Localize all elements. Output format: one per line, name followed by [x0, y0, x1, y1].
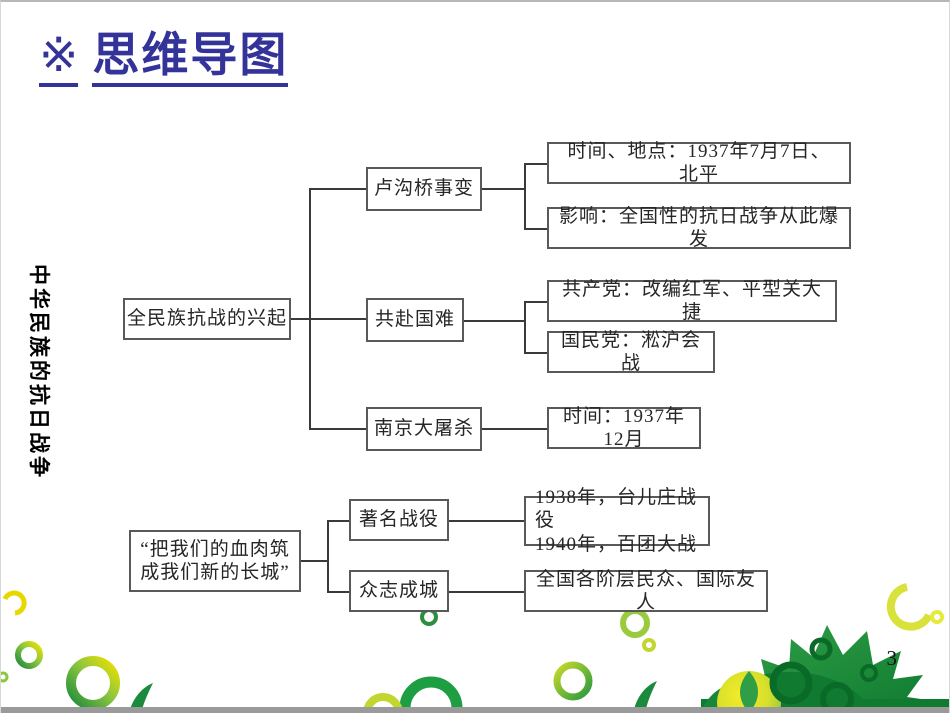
page-title: ※ 思维导图 [39, 32, 288, 87]
node-root-cluster-one[interactable]: 全民族抗战的兴起 [123, 298, 291, 340]
connector-spine-to-lugouqiao [309, 188, 368, 190]
connector-spine-cluster-two [327, 520, 329, 591]
connector-lugouqiao-bracket [524, 163, 526, 228]
connector-spine2-to-unity [327, 591, 351, 593]
node-branch-lugouqiao[interactable]: 卢沟桥事变 [366, 167, 482, 211]
reference-mark-icon: ※ [39, 32, 78, 87]
node-label: 卢沟桥事变 [374, 177, 474, 200]
connector-gongfuguonan-leaf2 [524, 352, 549, 354]
connector-spine-to-nanjing [309, 428, 368, 430]
connector-lugouqiao-out [482, 188, 526, 190]
vertical-chapter-label-text: 中华民族的抗日战争 [25, 264, 55, 480]
leaf-unity-participants[interactable]: 全国各阶层民众、国际友人 [524, 570, 768, 612]
node-branch-nanjing[interactable]: 南京大屠杀 [366, 407, 482, 451]
connector-nanjing-to-leaf [482, 428, 549, 430]
leaf-label: 共产党：改编红军、平型关大捷 [558, 278, 826, 324]
node-label: 众志成城 [359, 579, 439, 602]
leaf-famous-battles-list[interactable]: 1938年，台儿庄战役 1940年，百团大战 [524, 496, 710, 546]
node-label: 共赴国难 [375, 308, 455, 331]
node-root-cluster-two[interactable]: “把我们的血肉筑 成我们新的长城” [129, 530, 301, 592]
connector-gongfuguonan-bracket [524, 301, 526, 352]
leaf-label: 时间：1937年12月 [558, 405, 690, 451]
node-label: 著名战役 [359, 508, 439, 531]
connector-spine2-to-battles [327, 520, 351, 522]
bottom-rule-divider [1, 707, 950, 713]
page-number: 3 [887, 646, 898, 671]
vertical-chapter-label: 中华民族的抗日战争 [18, 232, 62, 512]
leaf-lugouqiao-impact[interactable]: 影响：全国性的抗日战争从此爆发 [547, 207, 851, 249]
connector-gongfuguonan-leaf1 [524, 301, 549, 303]
leaf-gongfuguonan-ccp[interactable]: 共产党：改编红军、平型关大捷 [547, 280, 837, 322]
connector-battles-to-leaf [449, 520, 526, 522]
connector-lugouqiao-leaf2 [524, 228, 549, 230]
page-title-text: 思维导图 [92, 32, 288, 87]
decorative-foliage-graphic [1, 573, 950, 713]
connector-spine-cluster-one [309, 188, 311, 429]
leaf-label: 国民党：淞沪会战 [558, 329, 704, 375]
connector-unity-to-leaf [449, 591, 526, 593]
node-label: 全民族抗战的兴起 [127, 307, 287, 330]
node-label: “把我们的血肉筑 成我们新的长城” [140, 538, 289, 584]
connector-lugouqiao-leaf1 [524, 163, 549, 165]
leaf-label: 全国各阶层民众、国际友人 [535, 568, 757, 614]
connector-root-stub [291, 318, 371, 320]
leaf-gongfuguonan-kmt[interactable]: 国民党：淞沪会战 [547, 331, 715, 373]
slide-canvas: ※ 思维导图 中华民族的抗日战争 全民族抗战的兴起 卢沟桥事变 共赴国难 南京大… [0, 0, 950, 713]
connector-root2-stub [301, 560, 329, 562]
node-branch-gongfuguonan[interactable]: 共赴国难 [366, 298, 464, 342]
node-label: 南京大屠杀 [374, 417, 474, 440]
leaf-label: 1938年，台儿庄战役 1940年，百团大战 [535, 486, 699, 556]
node-branch-famous-battles[interactable]: 著名战役 [349, 499, 449, 541]
leaf-lugouqiao-time-place[interactable]: 时间、地点：1937年7月7日、北平 [547, 142, 851, 184]
connector-gongfuguonan-out [464, 320, 526, 322]
node-branch-unity[interactable]: 众志成城 [349, 570, 449, 612]
leaf-nanjing-time[interactable]: 时间：1937年12月 [547, 407, 701, 449]
leaf-label: 影响：全国性的抗日战争从此爆发 [558, 205, 840, 251]
leaf-label: 时间、地点：1937年7月7日、北平 [558, 140, 840, 186]
